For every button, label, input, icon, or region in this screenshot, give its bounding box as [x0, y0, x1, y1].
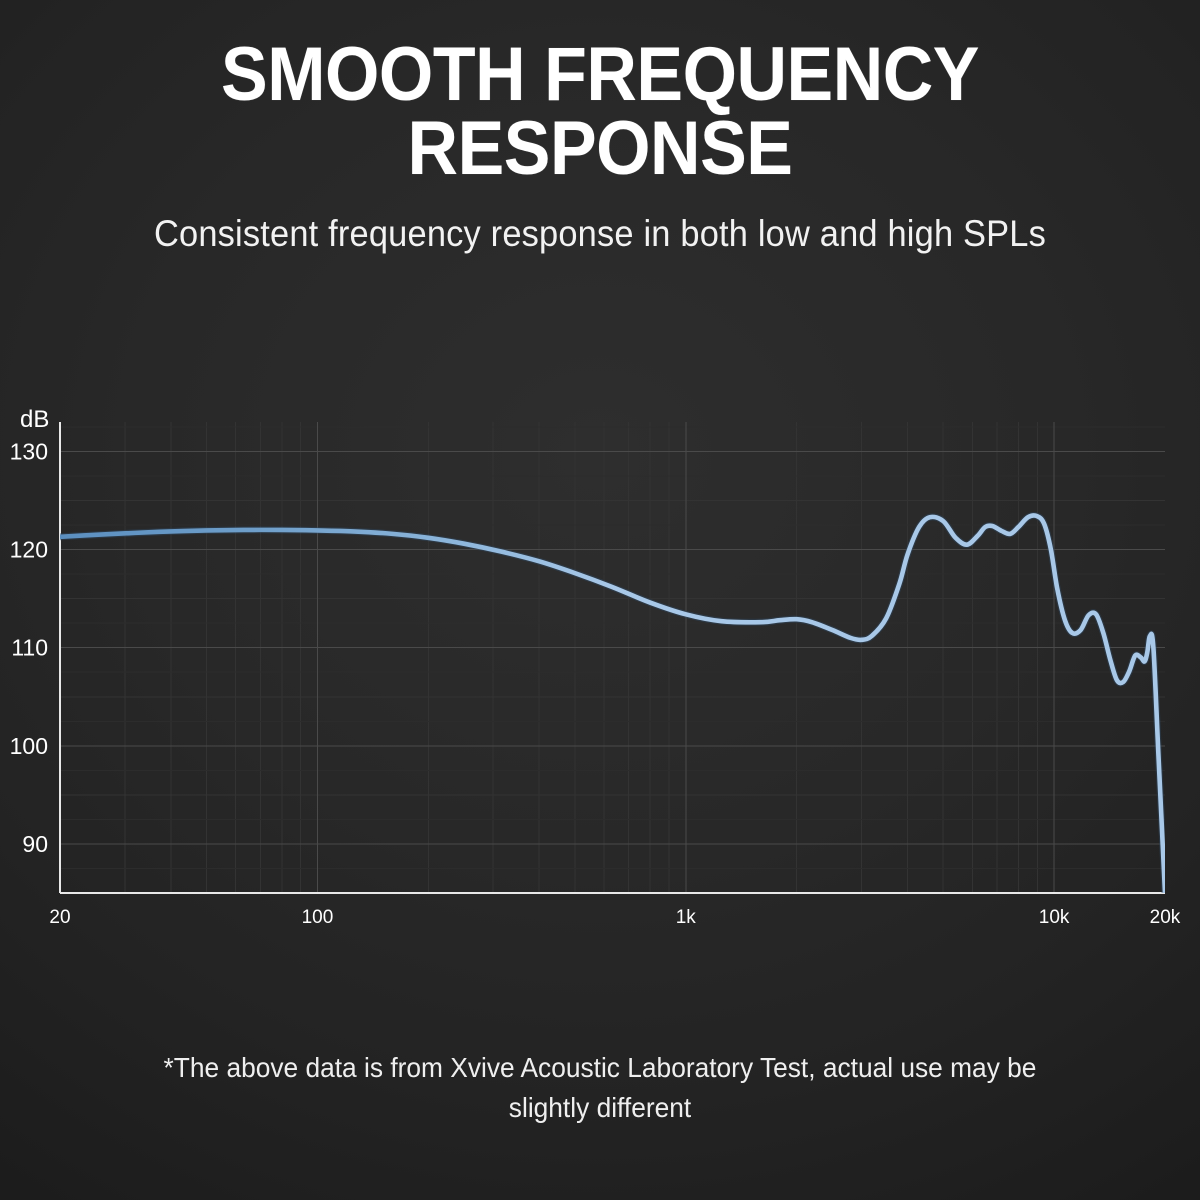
- page-subtitle: Consistent frequency response in both lo…: [42, 213, 1158, 255]
- x-tick-1k: 1k: [676, 907, 697, 928]
- y-tick-90: 90: [22, 831, 48, 857]
- frequency-response-page: SMOOTH FREQUENCY RESPONSE Consistent fre…: [0, 0, 1200, 1200]
- x-tick-20k: 20k: [1150, 907, 1181, 928]
- response-curve-line: [60, 516, 1165, 893]
- grid-major: [60, 422, 1165, 893]
- chart-container: 13012011010090 201001k10k20k dB: [0, 385, 1200, 945]
- response-curve: [60, 516, 1165, 893]
- y-tick-100: 100: [10, 733, 48, 759]
- y-tick-110: 110: [11, 635, 48, 661]
- grid-minor: [60, 422, 1165, 893]
- x-tick-100: 100: [302, 907, 334, 928]
- y-tick-130: 130: [10, 438, 48, 464]
- frequency-response-chart: 13012011010090 201001k10k20k dB: [0, 385, 1200, 945]
- footnote-text: *The above data is from Xvive Acoustic L…: [36, 1048, 1164, 1128]
- header-block: SMOOTH FREQUENCY RESPONSE Consistent fre…: [0, 0, 1200, 255]
- y-axis-tick-labels: 13012011010090: [10, 438, 48, 857]
- y-axis-unit-label: dB: [20, 406, 49, 433]
- response-curve-shadow: [60, 516, 1165, 893]
- y-tick-120: 120: [10, 537, 48, 563]
- x-tick-10k: 10k: [1039, 907, 1070, 928]
- page-title: SMOOTH FREQUENCY RESPONSE: [48, 38, 1152, 185]
- x-axis-tick-labels: 201001k10k20k: [49, 907, 1180, 928]
- chart-axes: [60, 422, 1165, 893]
- x-tick-20: 20: [49, 907, 70, 928]
